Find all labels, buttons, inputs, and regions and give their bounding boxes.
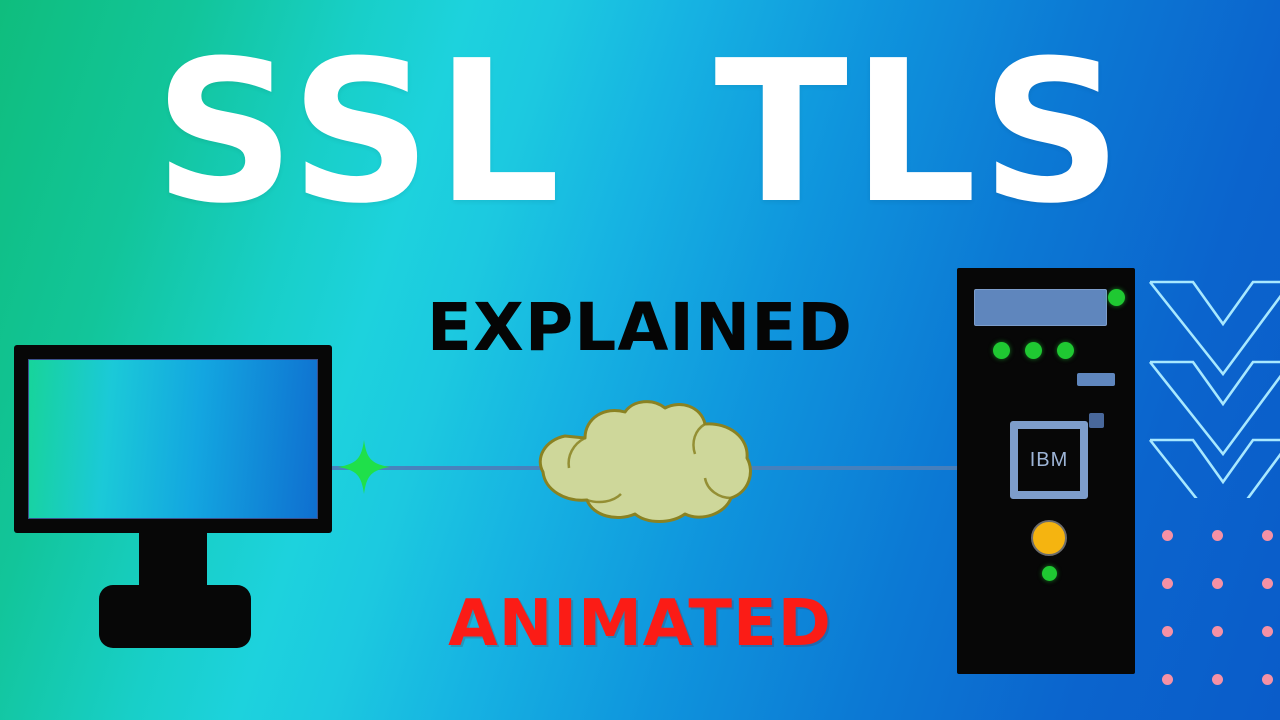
network-cloud-icon [525,398,765,523]
server-led-row [993,342,1074,359]
title-word-ssl: SSL [154,33,564,233]
grid-dot [1262,674,1273,685]
chevron-3 [1150,440,1280,498]
monitor-screen [28,359,318,519]
chevron-1 [1150,282,1280,374]
subtitle-animated: ANIMATED [0,588,1280,660]
server-display-panel [974,289,1107,326]
title-word-tls: TLS [714,33,1126,233]
grid-dot [1212,530,1223,541]
server-power-led [1042,566,1057,581]
server-led-1 [993,342,1010,359]
grid-dot [1162,530,1173,541]
green-sparkle-icon [338,440,390,494]
server-drive-slot [1077,373,1115,386]
server-led-2 [1025,342,1042,359]
thumbnail-canvas: SSL TLS EXPLAINED [0,0,1280,720]
monitor-stand-neck [139,531,207,589]
server-small-square [1089,413,1104,428]
server-led-3 [1057,342,1074,359]
server-status-led-corner [1108,289,1125,306]
server-power-button[interactable] [1031,520,1067,556]
down-chevron-arrows [1145,258,1280,498]
grid-dot [1262,530,1273,541]
grid-dot [1162,674,1173,685]
title-row: SSL TLS [0,28,1280,238]
grid-dot [1212,674,1223,685]
server-logo-label: IBM [1010,421,1088,499]
